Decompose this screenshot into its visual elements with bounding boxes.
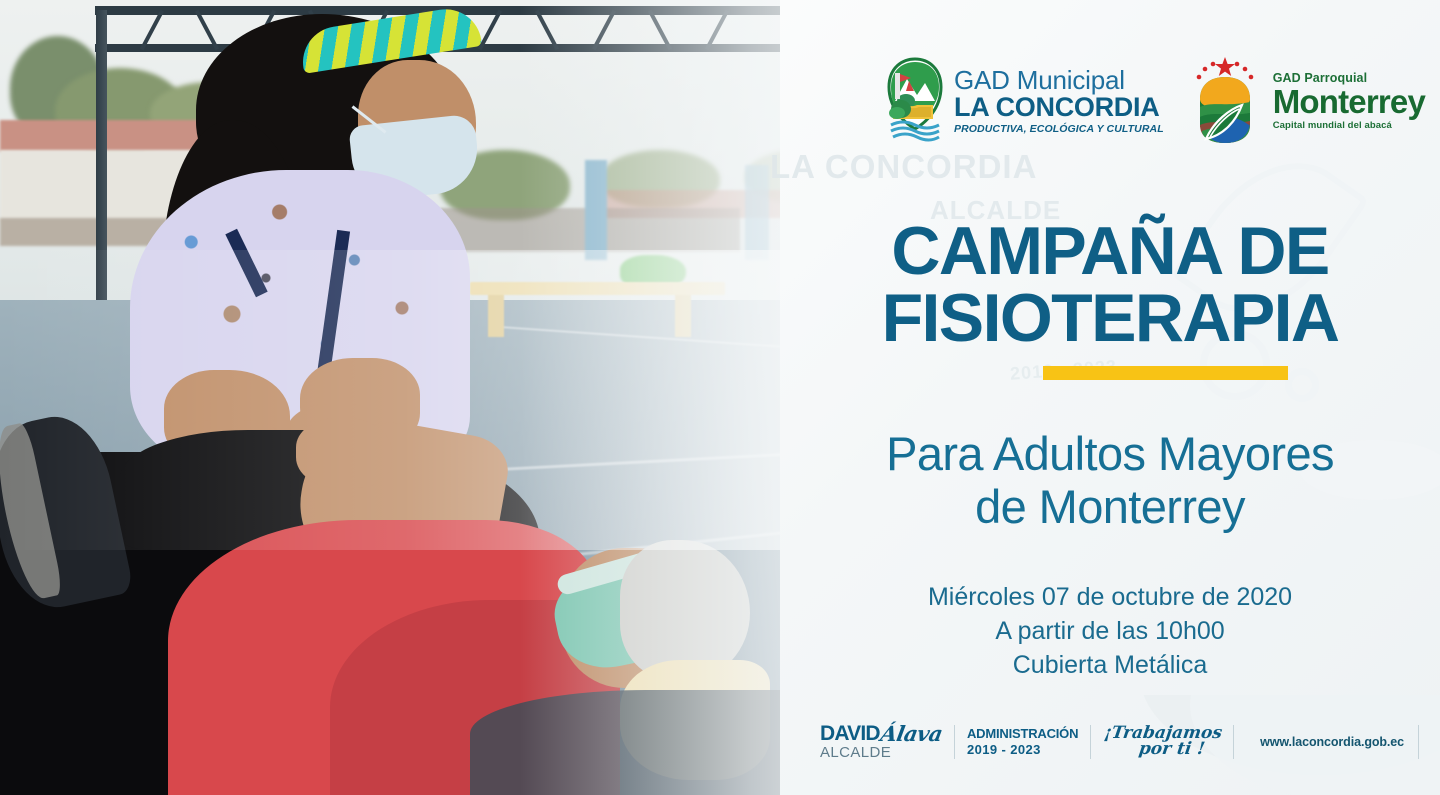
- slogan-line-2: por ti !: [1123, 742, 1221, 758]
- administration-block: ADMINISTRACIÓN 2019 - 2023: [967, 726, 1078, 757]
- event-time: A partir de las 10h00: [780, 614, 1440, 648]
- administration-label: ADMINISTRACIÓN: [967, 726, 1078, 741]
- mayor-role: ALCALDE: [820, 745, 942, 760]
- mayor-signature: DAVID Álava ALCALDE: [820, 723, 942, 760]
- logo-tagline-parish: Capital mundial del abacá: [1273, 121, 1425, 131]
- monterrey-wordmark: GAD Parroquial Monterrey Capital mundial…: [1273, 72, 1425, 131]
- subtitle-line-2: de Monterrey: [780, 481, 1440, 534]
- headline-line-2: FISIOTERAPIA: [780, 285, 1440, 352]
- monterrey-crest-icon: [1186, 55, 1264, 147]
- footer-content: DAVID Álava ALCALDE ADMINISTRACIÓN 2019 …: [820, 723, 1440, 760]
- watermark-ring-icon: [1285, 368, 1319, 402]
- slogan: ¡Trabajamos por ti !: [1101, 726, 1223, 757]
- footer-divider: [1418, 725, 1419, 759]
- page-title: CAMPAÑA DE FISIOTERAPIA: [780, 218, 1440, 351]
- administration-years: 2019 - 2023: [967, 742, 1078, 757]
- accent-divider: [1043, 366, 1288, 380]
- footer-divider: [954, 725, 955, 759]
- event-date: Miércoles 07 de octubre de 2020: [780, 580, 1440, 614]
- logo-la-concordia: GAD Municipal LA CONCORDIA PRODUCTIVA, E…: [885, 57, 1164, 145]
- event-place: Cubierta Metálica: [780, 648, 1440, 682]
- subtitle: Para Adultos Mayores de Monterrey: [780, 428, 1440, 533]
- la-concordia-wordmark: GAD Municipal LA CONCORDIA PRODUCTIVA, E…: [954, 67, 1164, 135]
- mayor-last-name: Álava: [879, 723, 944, 744]
- subtitle-line-1: Para Adultos Mayores: [780, 428, 1440, 481]
- logo-line-la-concordia: LA CONCORDIA: [954, 94, 1164, 121]
- mayor-first-name: DAVID: [820, 723, 880, 744]
- event-details: Miércoles 07 de octubre de 2020 A partir…: [780, 580, 1440, 682]
- logo-line-gad-municipal: GAD Municipal: [954, 67, 1164, 93]
- la-concordia-shield-icon: [885, 57, 945, 145]
- headline-line-1: CAMPAÑA DE: [780, 218, 1440, 285]
- logo-row: GAD Municipal LA CONCORDIA PRODUCTIVA, E…: [885, 55, 1425, 147]
- website-url[interactable]: www.laconcordia.gob.ec: [1260, 735, 1404, 749]
- logo-tagline-municipal: PRODUCTIVA, ECOLÓGICA Y CULTURAL: [954, 124, 1164, 135]
- footer-bar: DAVID Álava ALCALDE ADMINISTRACIÓN 2019 …: [780, 695, 1440, 795]
- poster-canvas: LA CONCORDIA ALCALDE 2019 - 2023: [0, 0, 1440, 795]
- logo-monterrey: GAD Parroquial Monterrey Capital mundial…: [1186, 55, 1425, 147]
- content-panel: LA CONCORDIA ALCALDE 2019 - 2023: [780, 0, 1440, 795]
- watermark-la-concordia: LA CONCORDIA: [770, 148, 1037, 186]
- logo-line-monterrey: Monterrey: [1273, 85, 1425, 118]
- footer-divider: [1090, 725, 1091, 759]
- footer-divider: [1233, 725, 1234, 759]
